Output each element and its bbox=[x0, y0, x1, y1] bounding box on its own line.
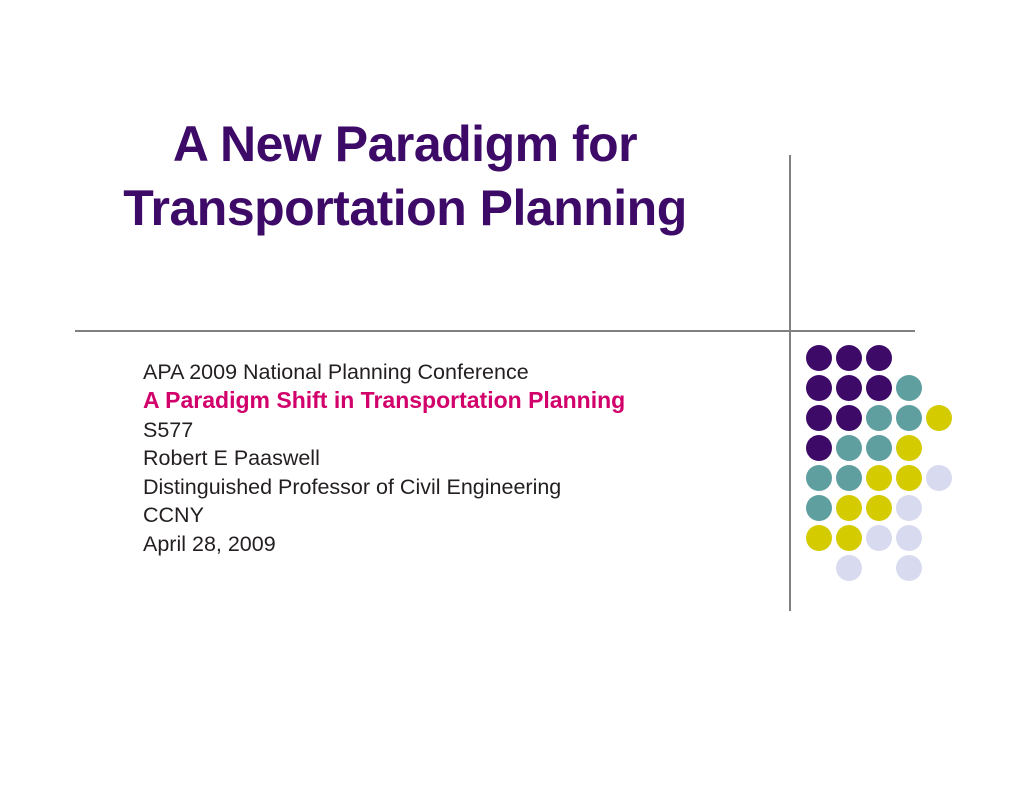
dot-purple bbox=[806, 435, 832, 461]
dot-purple bbox=[806, 405, 832, 431]
dot-yellow bbox=[806, 525, 832, 551]
dot-teal bbox=[806, 465, 832, 491]
dot-purple bbox=[866, 345, 892, 371]
dot-yellow bbox=[866, 495, 892, 521]
dot-yellow bbox=[836, 525, 862, 551]
dot-purple bbox=[806, 375, 832, 401]
dot-teal bbox=[896, 375, 922, 401]
dot-purple bbox=[836, 345, 862, 371]
dot-purple bbox=[836, 375, 862, 401]
dot-lavender bbox=[836, 555, 862, 581]
dot-lavender bbox=[896, 555, 922, 581]
dot-yellow bbox=[836, 495, 862, 521]
horizontal-divider-line bbox=[75, 330, 915, 332]
dot-lavender bbox=[896, 495, 922, 521]
session-code: S577 bbox=[143, 416, 743, 444]
dot-yellow bbox=[896, 465, 922, 491]
dot-teal bbox=[806, 495, 832, 521]
slide-title: A New Paradigm for Transportation Planni… bbox=[60, 112, 750, 240]
dot-yellow bbox=[866, 465, 892, 491]
presenter-name: Robert E Paaswell bbox=[143, 444, 743, 472]
presentation-date: April 28, 2009 bbox=[143, 530, 743, 558]
dot-lavender bbox=[896, 525, 922, 551]
dot-teal bbox=[866, 405, 892, 431]
dot-teal bbox=[836, 465, 862, 491]
presenter-institution: CCNY bbox=[143, 501, 743, 529]
presenter-title: Distinguished Professor of Civil Enginee… bbox=[143, 473, 743, 501]
slide-subtitle-block: APA 2009 National Planning Conference A … bbox=[143, 358, 743, 558]
conference-name: APA 2009 National Planning Conference bbox=[143, 358, 743, 386]
dot-lavender bbox=[926, 465, 952, 491]
dot-purple bbox=[866, 375, 892, 401]
decorative-dot-grid bbox=[806, 345, 966, 585]
title-line-2: Transportation Planning bbox=[60, 176, 750, 240]
dot-yellow bbox=[926, 405, 952, 431]
dot-lavender bbox=[866, 525, 892, 551]
dot-teal bbox=[866, 435, 892, 461]
title-line-1: A New Paradigm for bbox=[60, 112, 750, 176]
dot-teal bbox=[896, 405, 922, 431]
dot-purple bbox=[806, 345, 832, 371]
dot-purple bbox=[836, 405, 862, 431]
vertical-divider-line bbox=[789, 155, 791, 611]
session-title: A Paradigm Shift in Transportation Plann… bbox=[143, 386, 653, 416]
dot-yellow bbox=[896, 435, 922, 461]
dot-teal bbox=[836, 435, 862, 461]
presentation-title-slide: A New Paradigm for Transportation Planni… bbox=[0, 0, 1024, 791]
